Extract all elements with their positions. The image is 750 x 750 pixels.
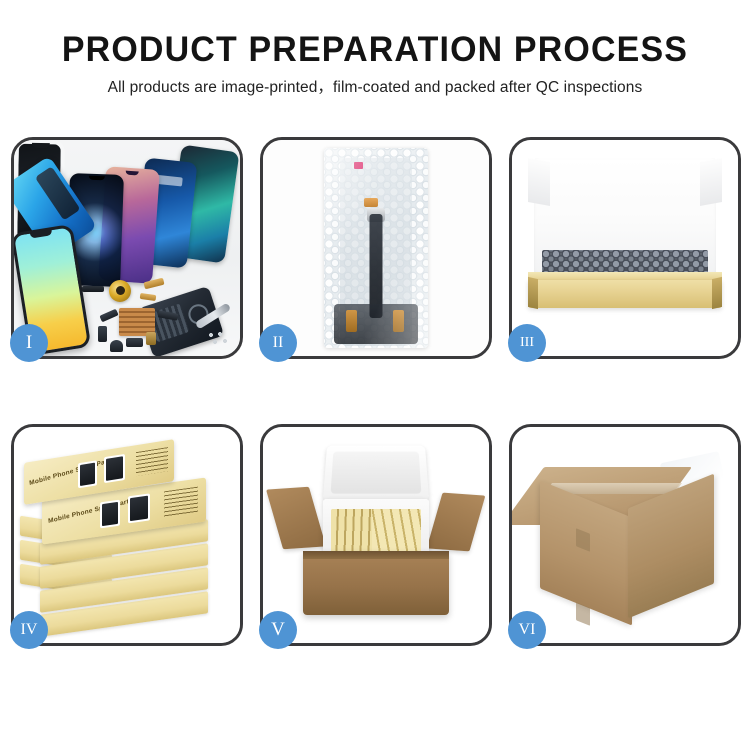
carton-body-icon: [303, 551, 449, 615]
carton-foam-scene: [263, 427, 489, 643]
carton-flap-right-icon: [427, 493, 486, 552]
process-step-panel-6[interactable]: VI: [509, 424, 741, 646]
tray-front-panel-icon: [528, 280, 722, 308]
step-5-image: [263, 427, 489, 643]
step-badge-3: III: [508, 324, 546, 362]
step-2-image: [263, 140, 489, 356]
open-tray-box-icon: [528, 158, 722, 314]
step-badge-6: VI: [508, 611, 546, 649]
pink-label-sticker-icon: [354, 162, 363, 169]
process-step-grid: I II: [0, 137, 750, 697]
camera-module-icon: [98, 326, 107, 342]
step-6-image: [512, 427, 738, 643]
gold-contact-right-icon: [393, 310, 404, 332]
step-1-image: [14, 140, 240, 356]
sealed-carton-scene: [512, 427, 738, 643]
step-badge-5: V: [259, 611, 297, 649]
box-brand-label: Mobile Phone Spare Parts: [48, 497, 133, 525]
speaker-coil-icon: [109, 280, 131, 302]
page-title: PRODUCT PREPARATION PROCESS: [11, 32, 739, 67]
flex-cable-icon: [370, 214, 383, 318]
eps-foam-lid-icon: [323, 445, 429, 500]
process-step-panel-4[interactable]: Mobile Phone Spare Parts Mobile Phone Sp…: [11, 424, 243, 646]
box-screen-image-icon: [100, 500, 120, 529]
carton-flap-left-icon: [266, 487, 326, 550]
phone-parts-scene: [14, 140, 240, 356]
bubble-wrap-scene: [263, 140, 489, 356]
sealed-carton-icon: [512, 427, 738, 643]
bubble-wrap-bag-icon: [324, 148, 428, 348]
retail-box-stack-icon: Mobile Phone Spare Parts Mobile Phone Sp…: [14, 427, 240, 643]
gold-tape-icon: [364, 198, 378, 207]
gold-boxes-inside-icon: [331, 509, 421, 553]
page-header: PRODUCT PREPARATION PROCESS All products…: [0, 0, 750, 96]
box-screen-image-icon: [78, 460, 97, 488]
part-strip-icon: [82, 286, 104, 292]
step-badge-2: II: [259, 324, 297, 362]
step-3-image: [512, 140, 738, 356]
tray-corner-right-icon: [712, 277, 722, 309]
step-4-image: Mobile Phone Spare Parts Mobile Phone Sp…: [14, 427, 240, 643]
box-brand-label: Mobile Phone Spare Parts: [29, 457, 114, 488]
open-carton-icon: [263, 427, 489, 643]
process-step-panel-1[interactable]: I: [11, 137, 243, 359]
tray-box-scene: [512, 140, 738, 356]
stacked-boxes-scene: Mobile Phone Spare Parts Mobile Phone Sp…: [14, 427, 240, 643]
page-subtitle: All products are image-printed，film-coat…: [0, 80, 750, 96]
process-step-panel-2[interactable]: II: [260, 137, 492, 359]
box-spec-lines: [164, 487, 198, 518]
tray-lid-right-flap-icon: [700, 158, 722, 206]
step-badge-4: IV: [10, 611, 48, 649]
sim-tray-icon: [146, 332, 156, 345]
vibration-motor-icon: [110, 340, 123, 352]
step-badge-1: I: [10, 324, 48, 362]
tray-corner-left-icon: [528, 277, 538, 309]
battery-connector-icon: [126, 338, 143, 347]
process-step-panel-3[interactable]: III: [509, 137, 741, 359]
tray-lid-left-flap-icon: [528, 158, 550, 206]
screws-icon: [208, 332, 230, 346]
box-screen-image-icon: [128, 493, 150, 523]
process-step-panel-5[interactable]: V: [260, 424, 492, 646]
box-spec-lines: [136, 447, 168, 476]
gold-contact-left-icon: [346, 310, 357, 332]
box-screen-image-icon: [104, 454, 125, 483]
